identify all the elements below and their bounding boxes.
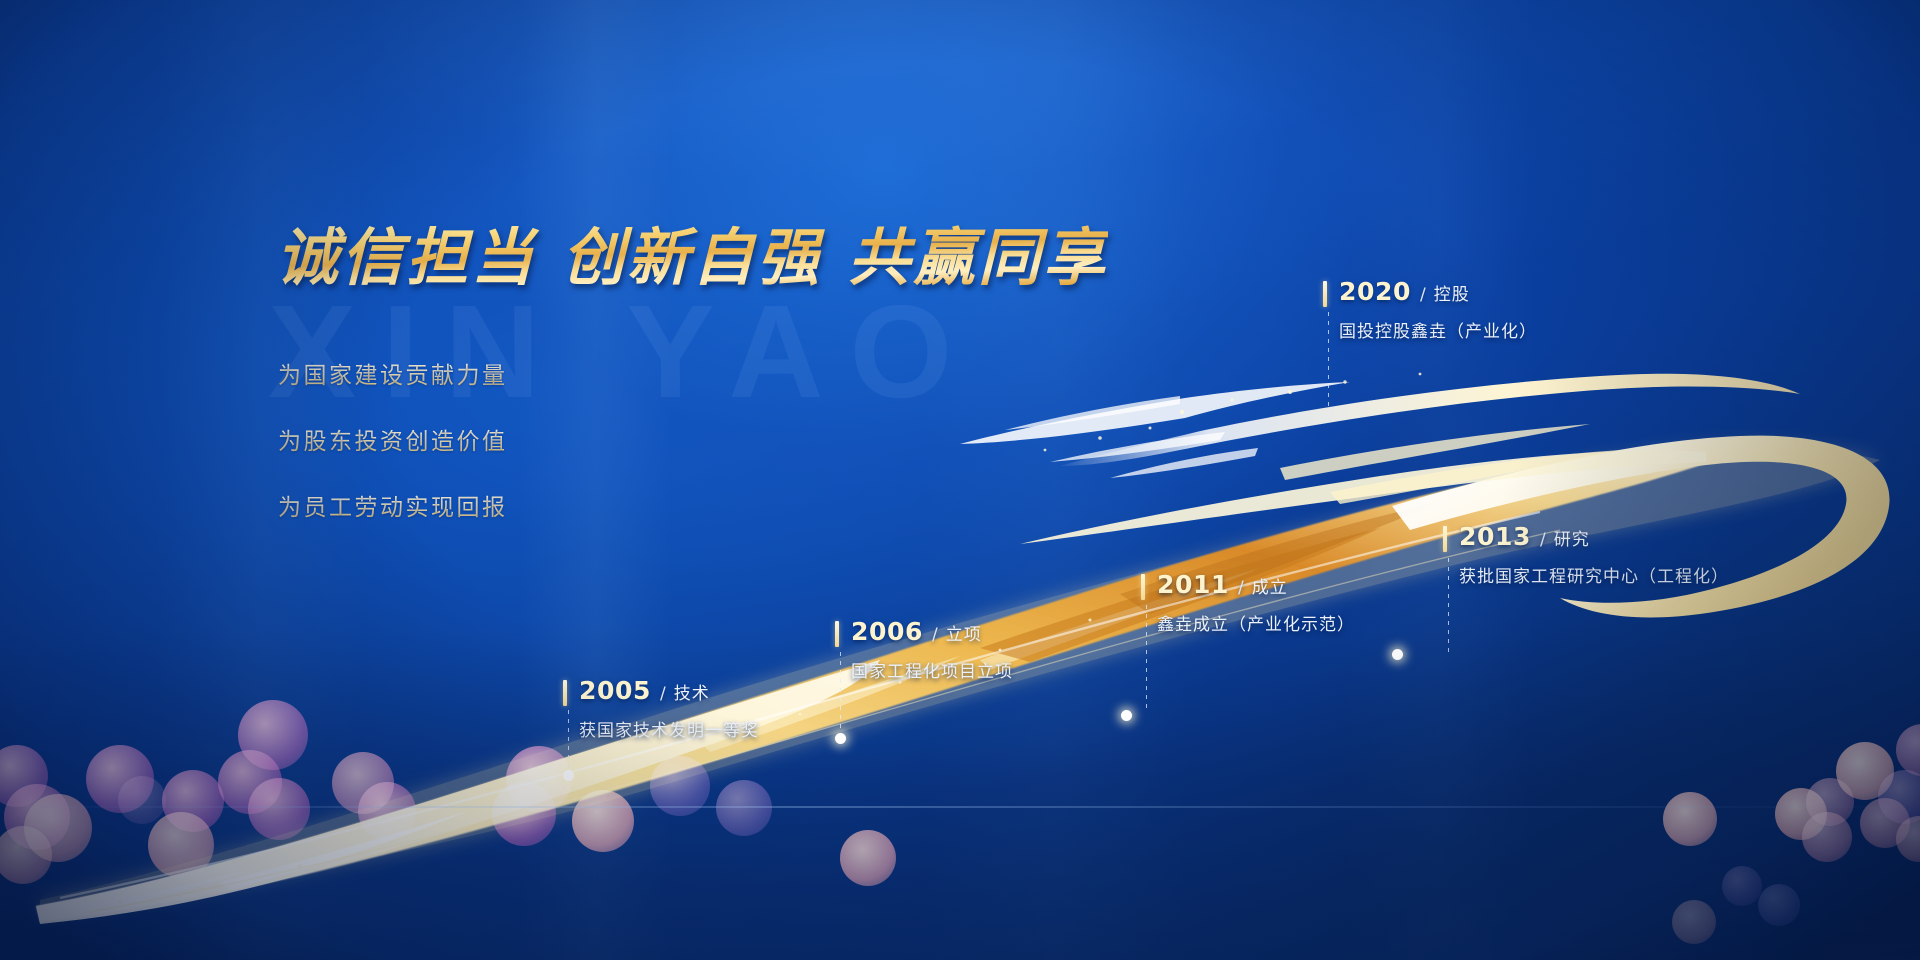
page-title: 诚信担当创新自强共赢同享 xyxy=(276,207,1108,297)
milestone-description: 鑫垚成立（产业化示范） xyxy=(1157,610,1355,635)
milestone-2005[interactable]: 2005/技术 获国家技术发明一等奖 xyxy=(563,676,759,741)
slogan-item: 为国家建设贡献力量 xyxy=(278,356,508,390)
milestone-description: 获批国家工程研究中心（工程化） xyxy=(1459,562,1729,587)
milestone-accent-bar xyxy=(1443,526,1447,552)
slogan-item: 为员工劳动实现回报 xyxy=(278,488,508,522)
light-band xyxy=(1344,0,1536,960)
milestone-category-label: 研究 xyxy=(1554,530,1590,550)
headline-part-2: 创新自强 xyxy=(562,221,822,294)
milestone-category: /控股 xyxy=(1420,280,1470,305)
milestone-separator: / xyxy=(932,625,939,645)
milestone-2006[interactable]: 2006/立项 国家工程化项目立项 xyxy=(835,617,1013,682)
milestone-category: /研究 xyxy=(1540,525,1590,550)
horizon-line xyxy=(0,806,1920,808)
slogan-list: 为国家建设贡献力量 为股东投资创造价值 为员工劳动实现回报 xyxy=(278,356,508,554)
milestone-separator: / xyxy=(1540,530,1547,550)
milestone-accent-bar xyxy=(1323,281,1327,307)
milestone-category-label: 成立 xyxy=(1252,578,1288,598)
milestone-separator: / xyxy=(1420,285,1427,305)
milestone-accent-bar xyxy=(563,680,567,706)
milestone-2020[interactable]: 2020/控股 国投控股鑫垚（产业化） xyxy=(1323,277,1537,342)
light-band xyxy=(518,0,672,960)
headline-part-1: 诚信担当 xyxy=(276,221,536,294)
milestone-2011[interactable]: 2011/成立 鑫垚成立（产业化示范） xyxy=(1141,570,1355,635)
milestone-category-label: 立项 xyxy=(946,625,982,645)
milestone-category: /技术 xyxy=(660,679,710,704)
milestone-year: 2006 xyxy=(851,617,923,646)
milestone-description: 国家工程化项目立项 xyxy=(851,657,1013,682)
milestone-description: 国投控股鑫垚（产业化） xyxy=(1339,317,1537,342)
milestone-year: 2013 xyxy=(1459,522,1531,551)
milestone-year: 2020 xyxy=(1339,277,1411,306)
milestone-accent-bar xyxy=(1141,574,1145,600)
milestone-dot-2011[interactable] xyxy=(1121,710,1132,721)
milestone-year: 2005 xyxy=(579,676,651,705)
milestone-2013[interactable]: 2013/研究 获批国家工程研究中心（工程化） xyxy=(1443,522,1729,587)
banner-stage: XIN YAO xyxy=(0,0,1920,960)
milestone-dot-2013[interactable] xyxy=(1392,649,1403,660)
headline-part-3: 共赢同享 xyxy=(848,221,1108,294)
light-band xyxy=(922,0,1191,960)
milestone-separator: / xyxy=(660,684,667,704)
milestone-dot-2005[interactable] xyxy=(563,770,574,781)
milestone-category-label: 技术 xyxy=(674,684,710,704)
milestone-separator: / xyxy=(1238,578,1245,598)
milestone-dot-2006[interactable] xyxy=(835,733,846,744)
milestone-category: /成立 xyxy=(1238,573,1288,598)
milestone-year: 2011 xyxy=(1157,570,1229,599)
milestone-description: 获国家技术发明一等奖 xyxy=(579,716,759,741)
milestone-category-label: 控股 xyxy=(1434,285,1470,305)
milestone-accent-bar xyxy=(835,621,839,647)
milestone-category: /立项 xyxy=(932,620,982,645)
slogan-item: 为股东投资创造价值 xyxy=(278,422,508,456)
